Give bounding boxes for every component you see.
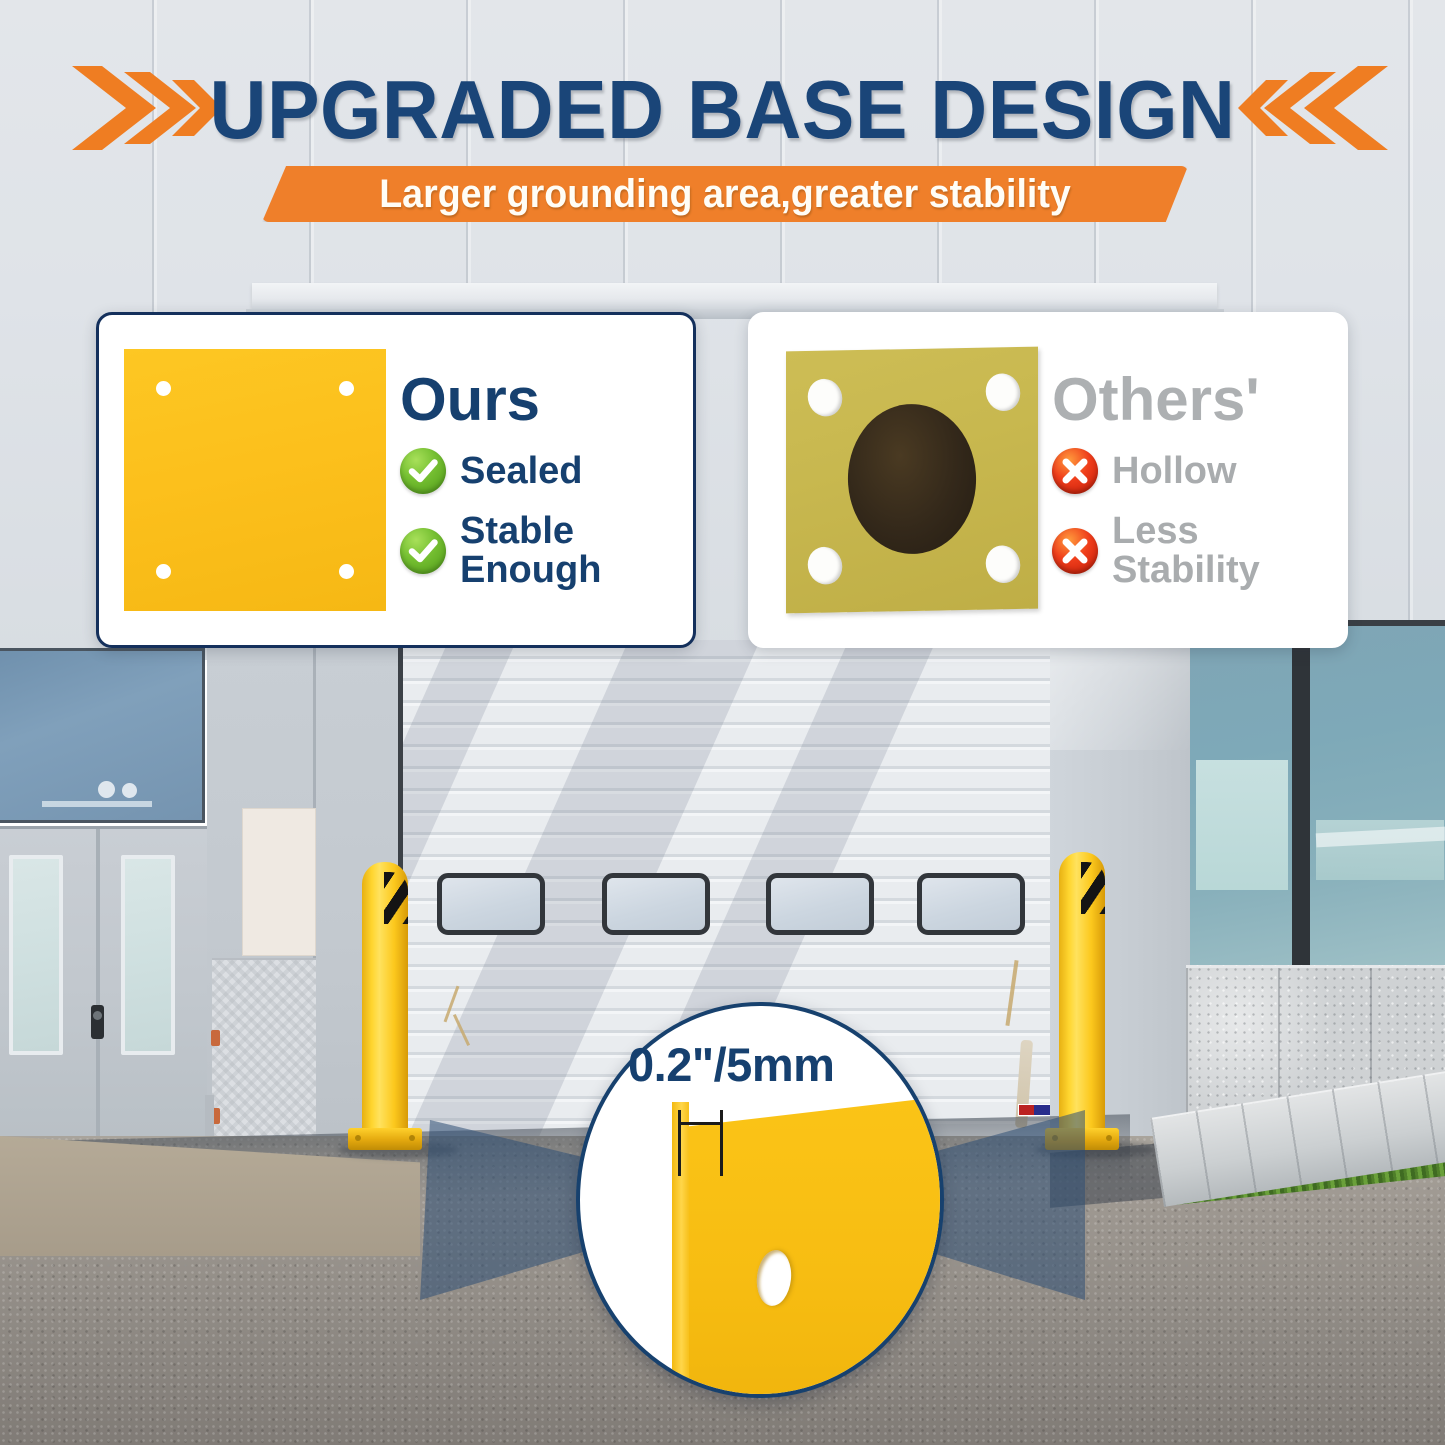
bolt-hole	[981, 368, 1026, 416]
subtitle-banner: Larger grounding area,greater stability	[262, 166, 1188, 222]
others-card-title: Others'	[1052, 370, 1335, 430]
others-card-body: Others' Hollow Less Stability	[1038, 370, 1345, 590]
x-circle-icon	[1052, 528, 1098, 574]
feature-label: Stable Enough	[460, 512, 601, 590]
product-feature-image: UPGRADED BASE DESIGN Larger grounding ar…	[0, 0, 1445, 1445]
check-circle-icon	[400, 528, 446, 574]
feature-label: Hollow	[1112, 452, 1237, 491]
thickness-measurement-label: 0.2"/5mm	[628, 1037, 834, 1092]
feature-row-stable-enough: Stable Enough	[400, 512, 683, 590]
feature-label: Sealed	[460, 452, 583, 491]
comparison-card-ours: Ours Sealed Stable Enough	[96, 312, 696, 648]
center-hollow-opening	[843, 399, 981, 560]
feature-row-hollow: Hollow	[1052, 448, 1335, 494]
bolt-hole	[981, 540, 1026, 588]
bolt-hole	[339, 564, 354, 579]
feature-row-sealed: Sealed	[400, 448, 683, 494]
ours-card-body: Ours Sealed Stable Enough	[386, 370, 693, 590]
others-plate-figure	[751, 349, 1038, 611]
comparison-card-others: Others' Hollow Less Stability	[748, 312, 1348, 648]
feature-label: Less Stability	[1112, 512, 1260, 590]
header-banner: UPGRADED BASE DESIGN Larger grounding ar…	[0, 0, 1445, 250]
feature-row-less-stability: Less Stability	[1052, 512, 1335, 590]
ours-plate-figure	[99, 349, 386, 611]
page-title: UPGRADED BASE DESIGN	[36, 62, 1409, 158]
bolt-hole	[803, 374, 848, 422]
hollow-base-plate-image	[786, 347, 1038, 614]
bolt-hole	[156, 381, 171, 396]
dimension-marker-icon	[676, 1110, 728, 1176]
solid-base-plate-image	[124, 349, 386, 611]
bolt-hole	[339, 381, 354, 396]
bolt-hole	[156, 564, 171, 579]
check-circle-icon	[400, 448, 446, 494]
bolt-hole	[803, 542, 848, 590]
ours-card-title: Ours	[400, 370, 683, 430]
x-circle-icon	[1052, 448, 1098, 494]
subtitle-text: Larger grounding area,greater stability	[290, 166, 1160, 222]
